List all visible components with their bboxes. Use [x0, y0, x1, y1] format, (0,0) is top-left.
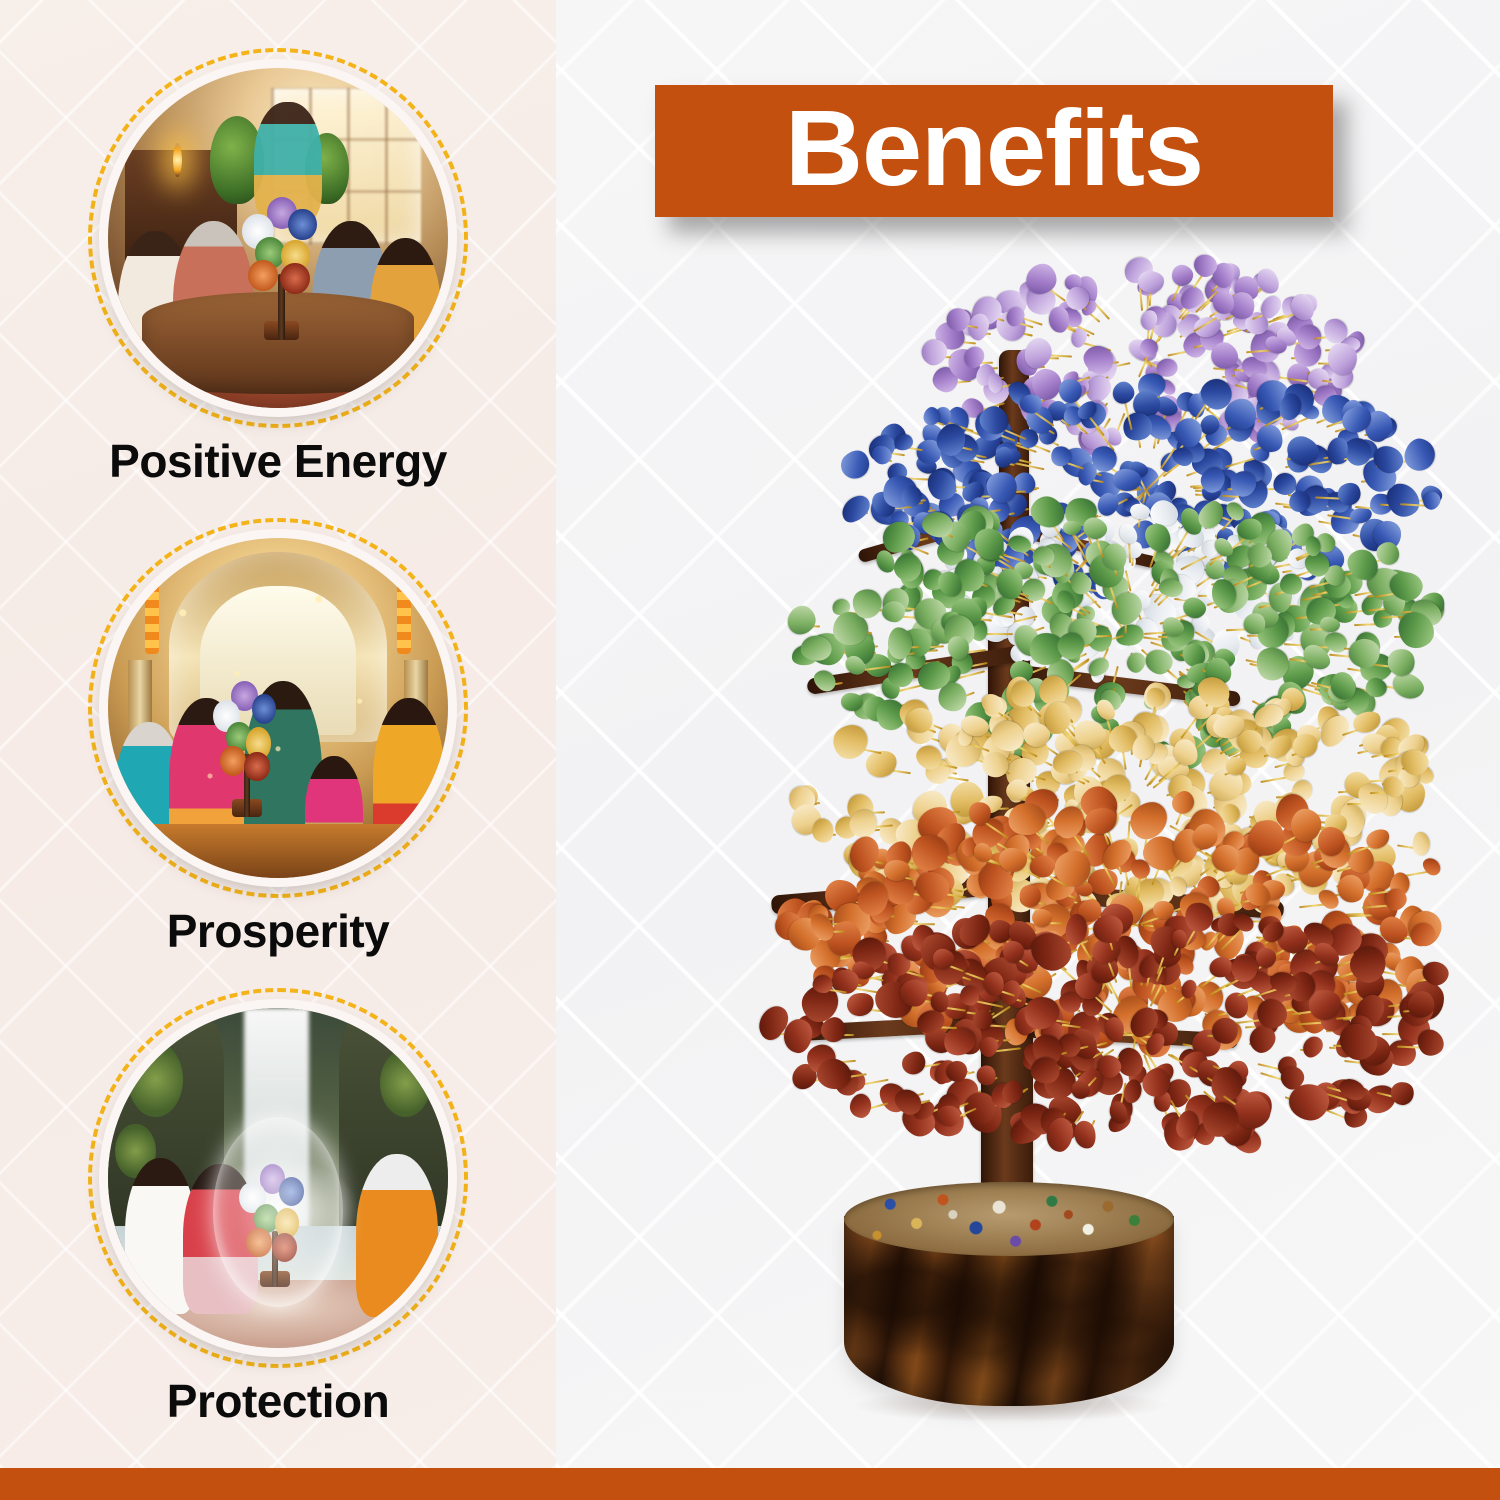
wooden-log-base: [844, 1182, 1174, 1450]
gemstone-chip: [848, 1093, 872, 1119]
benefits-sidebar: Positive Energy: [0, 0, 556, 1468]
tree-canopy-gemstones: [676, 260, 1396, 1120]
benefit-image-frame: [88, 518, 468, 898]
gemstone-chip: [782, 601, 821, 641]
gemstone-chip: [1299, 1032, 1326, 1060]
benefits-banner: Benefits: [655, 85, 1333, 217]
benefit-label: Positive Energy: [0, 434, 556, 488]
gemstone-tree-product-image: [556, 230, 1500, 1468]
gemstone-chip-surface: [844, 1182, 1174, 1256]
moss-patch: [380, 1049, 431, 1117]
page-title: Benefits: [785, 94, 1203, 202]
protective-light-orb: [213, 1117, 342, 1307]
gemstone-chip: [1138, 271, 1165, 293]
bottom-accent-strip: [0, 1468, 1500, 1500]
golden-bokeh-sparkles: [108, 538, 448, 878]
gemstone-chip: [837, 491, 875, 528]
gemstone-chip: [840, 692, 863, 711]
gemstone-chip: [1226, 757, 1246, 775]
gemstone-chip: [809, 666, 839, 696]
benefit-label: Prosperity: [0, 904, 556, 958]
gemstone-chip: [1317, 826, 1345, 856]
gemstone-chip: [844, 990, 876, 1019]
benefit-item-prosperity[interactable]: Prosperity: [0, 518, 556, 958]
benefit-photo-positive-energy: [108, 68, 448, 408]
benefit-image-frame: [88, 48, 468, 428]
benefit-photo-protection: [108, 1008, 448, 1348]
infographic-page: Positive Energy: [0, 0, 1500, 1500]
moss-patch: [128, 1042, 182, 1117]
scene-family-around-table: [108, 68, 448, 408]
oil-lamp-glow: [173, 143, 182, 177]
gemstone-chip: [811, 819, 834, 844]
scene-waterfall-protection: [108, 1008, 448, 1348]
gemstone-chip: [1170, 263, 1196, 288]
gemstone-chip: [1092, 915, 1123, 943]
scene-festive-family-offerings: [108, 538, 448, 878]
gemstone-chip: [1048, 306, 1069, 334]
gemstone-chip: [960, 985, 979, 1006]
person-sage-orange-robe: [356, 1154, 438, 1317]
mini-gemstone-tree: [237, 197, 325, 340]
benefit-label: Protection: [0, 1374, 556, 1428]
benefit-image-frame: [88, 988, 468, 1368]
benefit-item-positive-energy[interactable]: Positive Energy: [0, 48, 556, 488]
gemstone-chip: [801, 636, 832, 661]
benefit-item-protection[interactable]: Protection: [0, 988, 556, 1428]
gemstone-chip: [882, 601, 906, 623]
gemstone-chip: [897, 1047, 930, 1080]
benefit-photo-prosperity: [108, 538, 448, 878]
gemstone-chip: [1032, 545, 1055, 566]
gemstone-chip: [1031, 1057, 1060, 1084]
